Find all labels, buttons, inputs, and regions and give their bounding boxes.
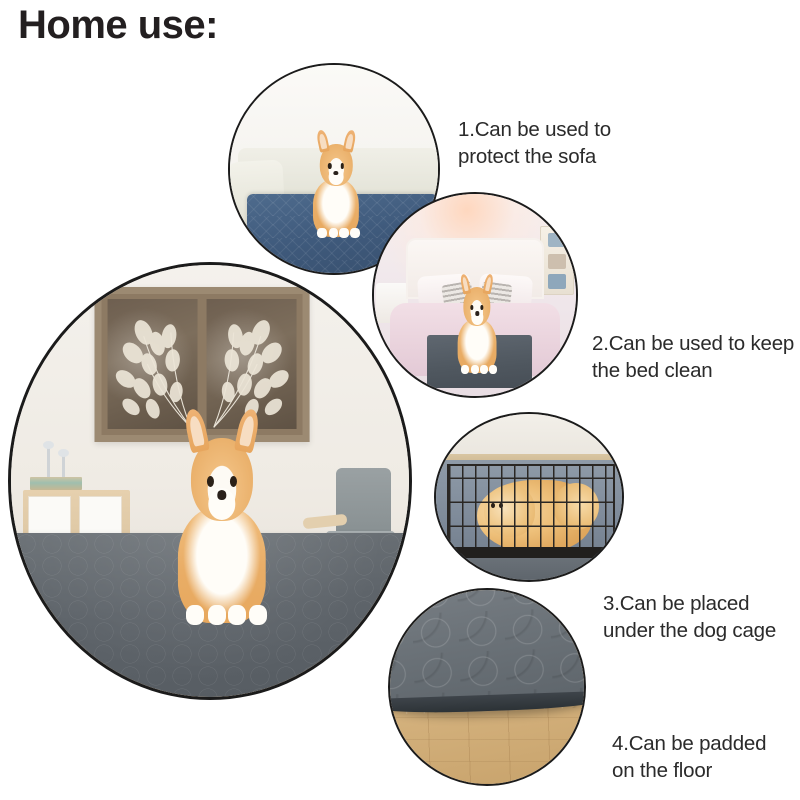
cage-bars-horizontal: [449, 466, 612, 552]
caption-dog-cage: 3.Can be placed under the dog cage: [603, 590, 776, 645]
corgi-dog: [451, 287, 504, 372]
dog-eye: [470, 305, 473, 310]
dog-eye: [230, 476, 237, 487]
dog-paw: [480, 365, 488, 374]
corgi-dog: [305, 144, 367, 236]
dog-paw: [208, 605, 226, 625]
cage-tray: [445, 547, 616, 559]
photo-bed-scene: [372, 192, 578, 398]
dog-paw: [228, 605, 246, 625]
gray-pet-pad: [388, 588, 586, 714]
art-panel-left: [108, 299, 198, 429]
pad-closeup-image: [390, 590, 584, 784]
corgi-dog: [162, 438, 281, 619]
photo-dog-cage-scene: [434, 412, 624, 582]
photo-living-room-scene: [8, 262, 412, 700]
dog-paw: [249, 605, 267, 625]
dog-head: [463, 287, 490, 326]
dog-eye: [481, 305, 484, 310]
shelf-item: [548, 254, 566, 269]
dog-nose: [334, 171, 339, 176]
shelf-item: [548, 274, 566, 289]
dog-paw: [461, 365, 469, 374]
caption-floor: 4.Can be padded on the floor: [612, 730, 766, 785]
stacked-books: [30, 477, 82, 489]
dog-eye: [340, 163, 344, 168]
shelf-item: [548, 233, 566, 248]
dog-paw: [339, 228, 348, 238]
page-title: Home use:: [18, 4, 218, 46]
dog-head: [320, 144, 352, 186]
bed-image: [374, 194, 576, 396]
candlestick-icon: [62, 454, 65, 479]
dog-eye: [207, 476, 214, 487]
caption-bed: 2.Can be used to keep the bed clean: [592, 330, 794, 385]
candlestick-icon: [47, 446, 50, 478]
leaf-icon: [108, 299, 198, 429]
shelf-unit: [540, 226, 574, 295]
dog-paw: [350, 228, 359, 238]
caption-sofa: 1.Can be used to protect the sofa: [458, 116, 611, 171]
dog-eye: [328, 163, 332, 168]
infographic-canvas: Home use:: [0, 0, 800, 800]
dog-paw: [186, 605, 204, 625]
dog-paw: [471, 365, 479, 374]
photo-pad-closeup-scene: [388, 588, 586, 786]
wire-cage: [447, 464, 614, 554]
dog-paw: [489, 365, 497, 374]
dog-cage-image: [436, 414, 622, 580]
dog-paw: [317, 228, 326, 238]
living-room-image: [11, 265, 409, 697]
dog-head: [191, 438, 253, 521]
dog-paw: [329, 228, 338, 238]
